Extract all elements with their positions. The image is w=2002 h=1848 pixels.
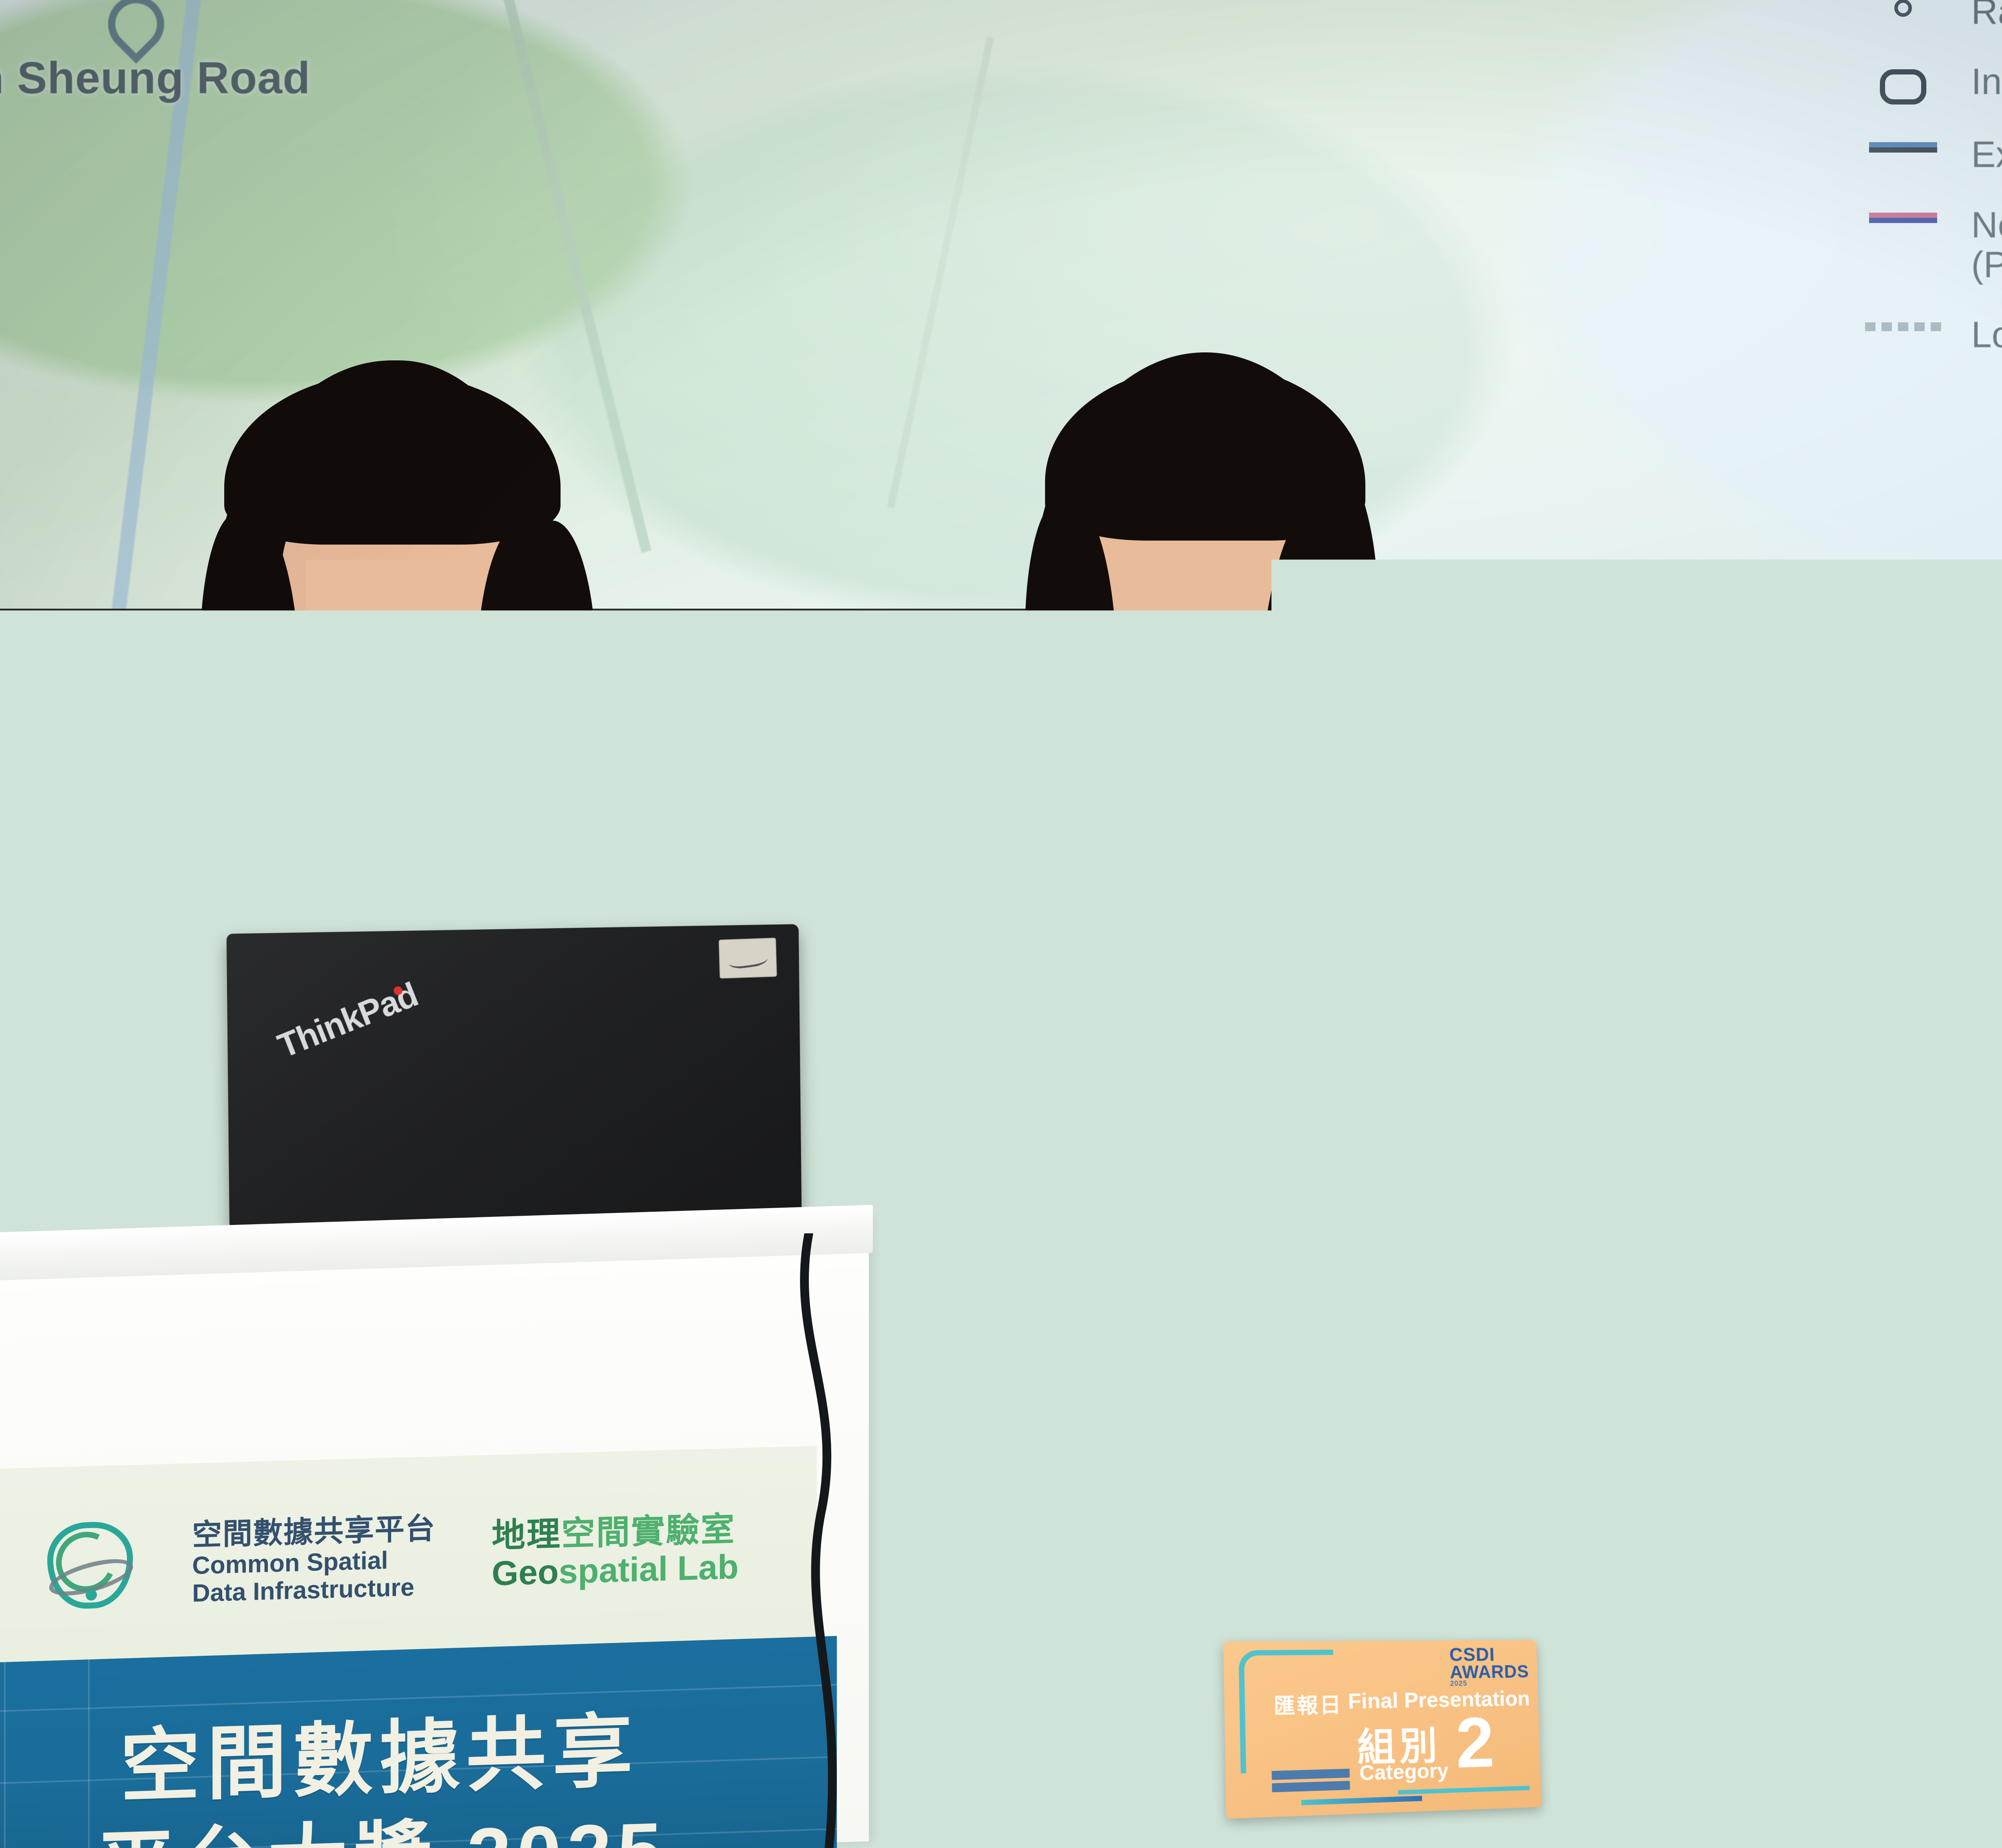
mic-gold-ring xyxy=(16,1073,34,1145)
legend-item-new-railway: New Railway S (Preliminary Co xyxy=(1866,205,2002,285)
csdi-zh-name: 空間數據共享平台 xyxy=(192,1512,436,1552)
sign-brand-line2: AWARDS xyxy=(1449,1663,1529,1680)
lectern-branding: 空間數據共享平台 Common Spatial Data Infrastruct… xyxy=(44,1500,739,1615)
thinkpad-laptop[interactable]: ThinkPad xyxy=(208,929,809,1253)
map-road-line xyxy=(887,36,994,508)
spare-microphone-stand-1[interactable]: CSDI AWARDS xyxy=(1487,1519,1580,1621)
category-sign: 匯報日 Final Presentation 組別 Category 2 CSD… xyxy=(1223,1640,1542,1819)
map-road-line xyxy=(107,0,204,617)
csdi-logo-icon xyxy=(44,1517,136,1615)
legend-item-interchange-station: Interchange Station xyxy=(1866,62,2002,105)
legend-item-existing-railway: Existing or Committed Railway xyxy=(1866,135,2002,175)
hand-right xyxy=(1381,1133,1534,1249)
thinkpad-logo: ThinkPad xyxy=(273,971,431,1066)
team-logo-a-icon: B xyxy=(1287,887,1327,956)
legend-label: Railway Station xyxy=(1971,0,2002,32)
dotted-line-icon xyxy=(1866,315,1940,331)
laptop-lid: ThinkPad xyxy=(227,924,802,1227)
slide-road-label: m Sheung Road xyxy=(0,52,310,104)
sign-category-number: 2 xyxy=(1455,1707,1495,1779)
stand-brand-label: CSDI AWARDS xyxy=(1489,1519,1504,1538)
sign-group-en: Category xyxy=(1359,1759,1449,1786)
sign-day-en: Final Presentation xyxy=(1348,1686,1530,1714)
legend-label: Long Term Exten xyxy=(1971,315,2002,355)
mic-logo-line1-right: CSDI xyxy=(1228,663,1323,683)
existing-line-icon xyxy=(1866,135,1940,142)
geospatial-lab-wordmark: 地理空間實驗室 Geospatial Lab xyxy=(492,1510,739,1593)
geospatial-en-name: Geospatial Lab xyxy=(492,1548,739,1593)
hand-left-holding-mic xyxy=(1117,737,1253,845)
new-line-icon xyxy=(1866,205,1940,213)
csdi-awards-logo: CSDI AWARDS 2025 xyxy=(1449,1646,1530,1687)
gooseneck-mic-stand[interactable] xyxy=(4,825,28,1185)
legend-label: New Railway S xyxy=(1971,205,2002,245)
csdi-awards-logo-right: CSDI AWARDS xyxy=(1225,663,1323,702)
csdi-wordmark: 空間數據共享平台 Common Spatial Data Infrastruct… xyxy=(192,1512,436,1608)
legend-label-line2: (Preliminary Co xyxy=(1971,245,2002,285)
geospatial-zh-name: 地理空間實驗室 xyxy=(492,1510,739,1554)
map-pin-icon xyxy=(96,0,176,64)
sign-accent-line-right xyxy=(1398,1786,1530,1795)
power-cable xyxy=(785,1233,865,1848)
laptop-sticker xyxy=(719,938,777,979)
slide-legend: Railway Station Interchange Station Exis… xyxy=(1866,0,2002,386)
sign-accent-line-bottom xyxy=(1301,1796,1422,1806)
railway-station-icon xyxy=(1866,0,1940,17)
legend-item-railway-station: Railway Station xyxy=(1866,0,2002,32)
mic-logo-line2-right: AWARDS xyxy=(1225,683,1319,702)
sign-sponsor-strip xyxy=(1272,1769,1350,1792)
legend-label: Interchange Station xyxy=(1971,62,2002,102)
presentation-scene: m Sheung Road Railway Station Interchang… xyxy=(0,0,2002,1848)
legend-item-long-term-extension: Long Term Exten xyxy=(1866,315,2002,355)
legend-label: Existing or Committed Railway xyxy=(1971,135,2002,175)
sign-day-zh: 匯報日 xyxy=(1273,1688,1343,1720)
interchange-station-icon xyxy=(1866,62,1940,105)
